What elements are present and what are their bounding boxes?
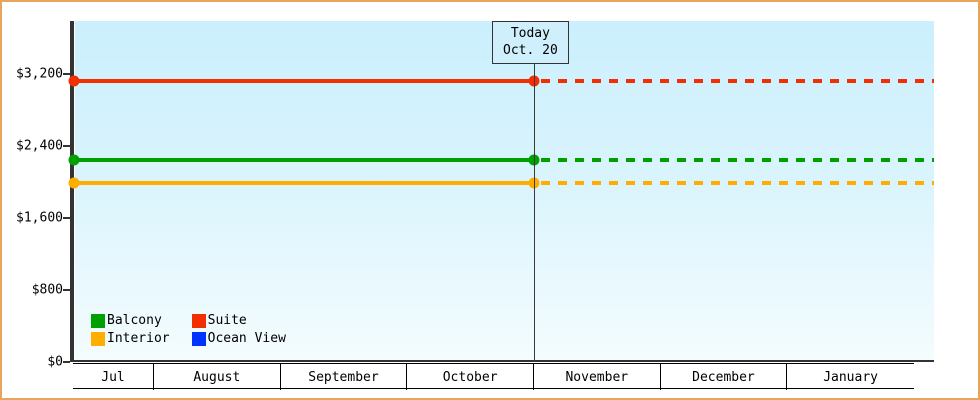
legend-item-label: Suite [208, 313, 247, 328]
legend-item[interactable]: Interior [91, 331, 170, 346]
y-tick-mark [63, 361, 70, 363]
legend-item-label: Ocean View [208, 331, 286, 346]
y-tick-mark [63, 73, 70, 75]
month-cell: September [281, 364, 408, 390]
today-annotation-line2: Oct. 20 [503, 42, 558, 59]
month-cell: Jul [73, 364, 154, 390]
today-vertical-line [534, 21, 535, 362]
month-cell: December [661, 364, 788, 390]
y-tick-label: $3,200 [16, 67, 63, 82]
month-cell: August [154, 364, 281, 390]
series-line-forecast [541, 158, 934, 162]
today-annotation-line1: Today [503, 25, 558, 42]
month-axis-table: JulAugustSeptemberOctoberNovemberDecembe… [73, 363, 914, 389]
legend-swatch-interior [91, 332, 105, 346]
y-tick-mark [63, 145, 70, 147]
y-tick-label: $1,600 [16, 211, 63, 226]
legend-item[interactable]: Ocean View [192, 331, 286, 346]
plot-area [75, 21, 934, 362]
series-data-point[interactable] [69, 76, 80, 87]
y-axis [70, 21, 74, 362]
legend-swatch-suite [192, 314, 206, 328]
today-annotation-box: Today Oct. 20 [492, 21, 569, 64]
series-line-forecast [541, 181, 934, 185]
series-data-point[interactable] [69, 155, 80, 166]
legend-swatch-ocean-view [192, 332, 206, 346]
x-axis [70, 360, 934, 362]
month-cell: November [534, 364, 661, 390]
series-line-historical [73, 79, 534, 83]
month-cell: October [407, 364, 534, 390]
legend-swatch-balcony [91, 314, 105, 328]
y-axis-tick-labels: $0$800$1,600$2,400$3,200 [2, 2, 63, 400]
y-tick-label: $0 [47, 355, 63, 370]
y-tick-label: $2,400 [16, 139, 63, 154]
legend-item-label: Interior [107, 331, 170, 346]
legend-item[interactable]: Balcony [91, 313, 170, 328]
y-tick-mark [63, 217, 70, 219]
series-line-historical [73, 181, 534, 185]
y-tick-mark [63, 289, 70, 291]
month-cell: January [787, 364, 914, 390]
series-line-historical [73, 158, 534, 162]
legend-item[interactable]: Suite [192, 313, 286, 328]
chart-legend: BalconySuiteInteriorOcean View [91, 313, 286, 346]
series-data-point[interactable] [69, 177, 80, 188]
series-line-forecast [541, 79, 934, 83]
price-trend-chart: $0$800$1,600$2,400$3,200 Today Oct. 20 B… [0, 0, 980, 400]
y-tick-label: $800 [32, 283, 63, 298]
legend-item-label: Balcony [107, 313, 162, 328]
